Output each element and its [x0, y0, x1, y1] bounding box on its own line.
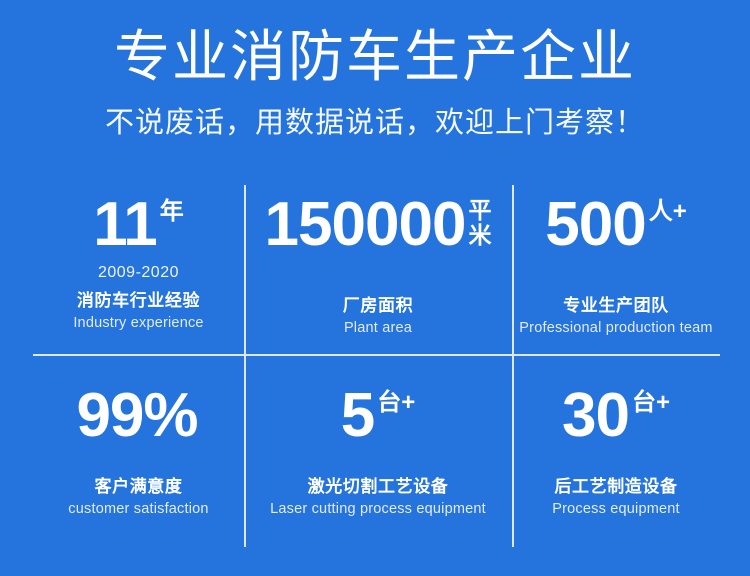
stat-label-cn: 消防车行业经验: [77, 286, 200, 311]
stat-label-cn: 厂房面积: [343, 291, 413, 316]
stat-label-en: Professional production team: [519, 320, 712, 336]
stat-figure: 5 台+: [341, 386, 416, 446]
stat-unit: 年: [160, 199, 184, 224]
stat-cell-customer-satisfaction: 99% 客户满意度 customer satisfaction: [33, 354, 244, 547]
stat-label-en: Plant area: [344, 320, 412, 336]
stat-number: 99%: [76, 386, 197, 446]
stat-cell-laser-cutting-equipment: 5 台+ 激光切割工艺设备 Laser cutting process equi…: [244, 354, 512, 547]
stat-number: 11: [93, 195, 157, 255]
stat-cell-process-equipment: 30 台+ 后工艺制造设备 Process equipment: [512, 354, 720, 547]
stat-figure: 500 人+: [545, 195, 686, 255]
page-title: 专业消防车生产企业: [0, 26, 750, 88]
stat-label-en: customer satisfaction: [68, 501, 208, 517]
stat-number: 5: [341, 386, 374, 446]
stat-figure: 150000 平 米: [265, 195, 492, 255]
stat-unit: 人+: [649, 199, 687, 224]
stat-unit: 平 米: [468, 198, 491, 248]
stat-cell-plant-area: 150000 平 米 厂房面积 Plant area: [244, 185, 512, 354]
page-subtitle: 不说废话，用数据说话，欢迎上门考察！: [0, 104, 750, 142]
stat-number: 500: [545, 195, 645, 255]
stats-cell-container: 11 年 2009-2020 消防车行业经验 Industry experien…: [33, 185, 720, 547]
promo-banner: 专业消防车生产企业 不说废话，用数据说话，欢迎上门考察！ 11 年 2009-2…: [0, 0, 750, 576]
stat-label-en: Industry experience: [73, 315, 203, 331]
stats-grid: 11 年 2009-2020 消防车行业经验 Industry experien…: [33, 185, 720, 547]
stat-unit: 台+: [377, 390, 415, 415]
stat-label-cn: 专业生产团队: [563, 291, 669, 316]
stat-number: 30: [562, 386, 629, 446]
stat-figure: 30 台+: [562, 386, 670, 446]
stat-unit-char-1: 平: [468, 198, 491, 223]
stat-figure: 11 年: [93, 195, 184, 255]
stat-label-en: Laser cutting process equipment: [270, 501, 486, 517]
stat-cell-industry-experience: 11 年 2009-2020 消防车行业经验 Industry experien…: [33, 185, 244, 354]
banner-header: 专业消防车生产企业 不说废话，用数据说话，欢迎上门考察！: [0, 0, 750, 170]
stat-year-range: 2009-2020: [98, 264, 179, 282]
stat-cell-production-team: 500 人+ 专业生产团队 Professional production te…: [512, 185, 720, 354]
stat-unit: 台+: [632, 390, 670, 415]
stat-number: 150000: [265, 195, 466, 255]
stat-unit-char-2: 米: [468, 223, 491, 248]
stat-label-en: Process equipment: [552, 501, 680, 517]
stat-figure: 99%: [76, 386, 200, 446]
stat-label-cn: 后工艺制造设备: [554, 472, 677, 497]
stat-label-cn: 客户满意度: [95, 472, 183, 497]
stat-label-cn: 激光切割工艺设备: [308, 472, 449, 497]
